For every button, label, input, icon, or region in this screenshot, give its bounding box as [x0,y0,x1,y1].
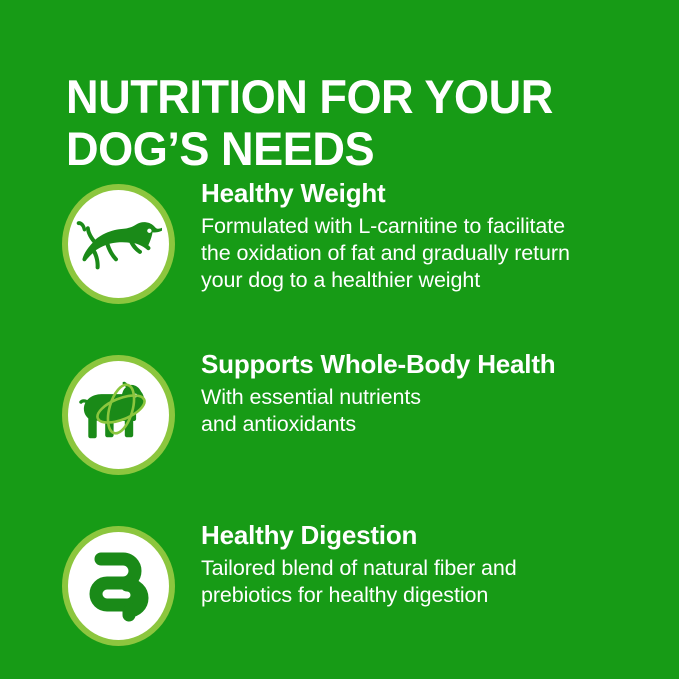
feature-description-line: Formulated with L-carnitine to facilitat… [201,213,663,240]
leaping-dog-icon [76,216,162,272]
feature-item-healthy-digestion: Healthy Digestion Tailored blend of natu… [0,514,679,664]
feature-description-line: Tailored blend of natural fiber and [201,555,663,582]
feature-description-line: prebiotics for healthy digestion [201,582,663,609]
feature-item-whole-body-health: Supports Whole-Body Health With essentia… [0,343,679,493]
feature-description-line: With essential nutrients [201,384,663,411]
feature-icon-badge [62,526,175,646]
nutrition-infographic: NUTRITION FOR YOUR DOG’S NEEDS Healthy W… [0,0,679,679]
page-title-line-2: DOG’S NEEDS [66,123,604,175]
feature-description-line: and antioxidants [201,411,663,438]
feature-icon-badge [62,184,175,304]
feature-text-block: Supports Whole-Body Health With essentia… [175,343,679,438]
feature-list: Healthy Weight Formulated with L-carniti… [0,172,679,664]
intestine-icon [87,548,151,624]
feature-description: Formulated with L-carnitine to facilitat… [201,213,663,294]
feature-description-line: your dog to a healthier weight [201,267,663,294]
feature-title: Supports Whole-Body Health [201,349,663,380]
feature-icon-badge [62,355,175,475]
feature-item-healthy-weight: Healthy Weight Formulated with L-carniti… [0,172,679,322]
feature-title: Healthy Digestion [201,520,663,551]
feature-description: Tailored blend of natural fiber and preb… [201,555,663,609]
page-title: NUTRITION FOR YOUR DOG’S NEEDS [66,71,604,175]
feature-description: With essential nutrients and antioxidant… [201,384,663,438]
feature-description-line: the oxidation of fat and gradually retur… [201,240,663,267]
feature-text-block: Healthy Weight Formulated with L-carniti… [175,172,679,294]
feature-text-block: Healthy Digestion Tailored blend of natu… [175,514,679,609]
feature-title: Healthy Weight [201,178,663,209]
dog-with-orbit-rings-icon [79,379,159,451]
page-title-line-1: NUTRITION FOR YOUR [66,71,604,123]
